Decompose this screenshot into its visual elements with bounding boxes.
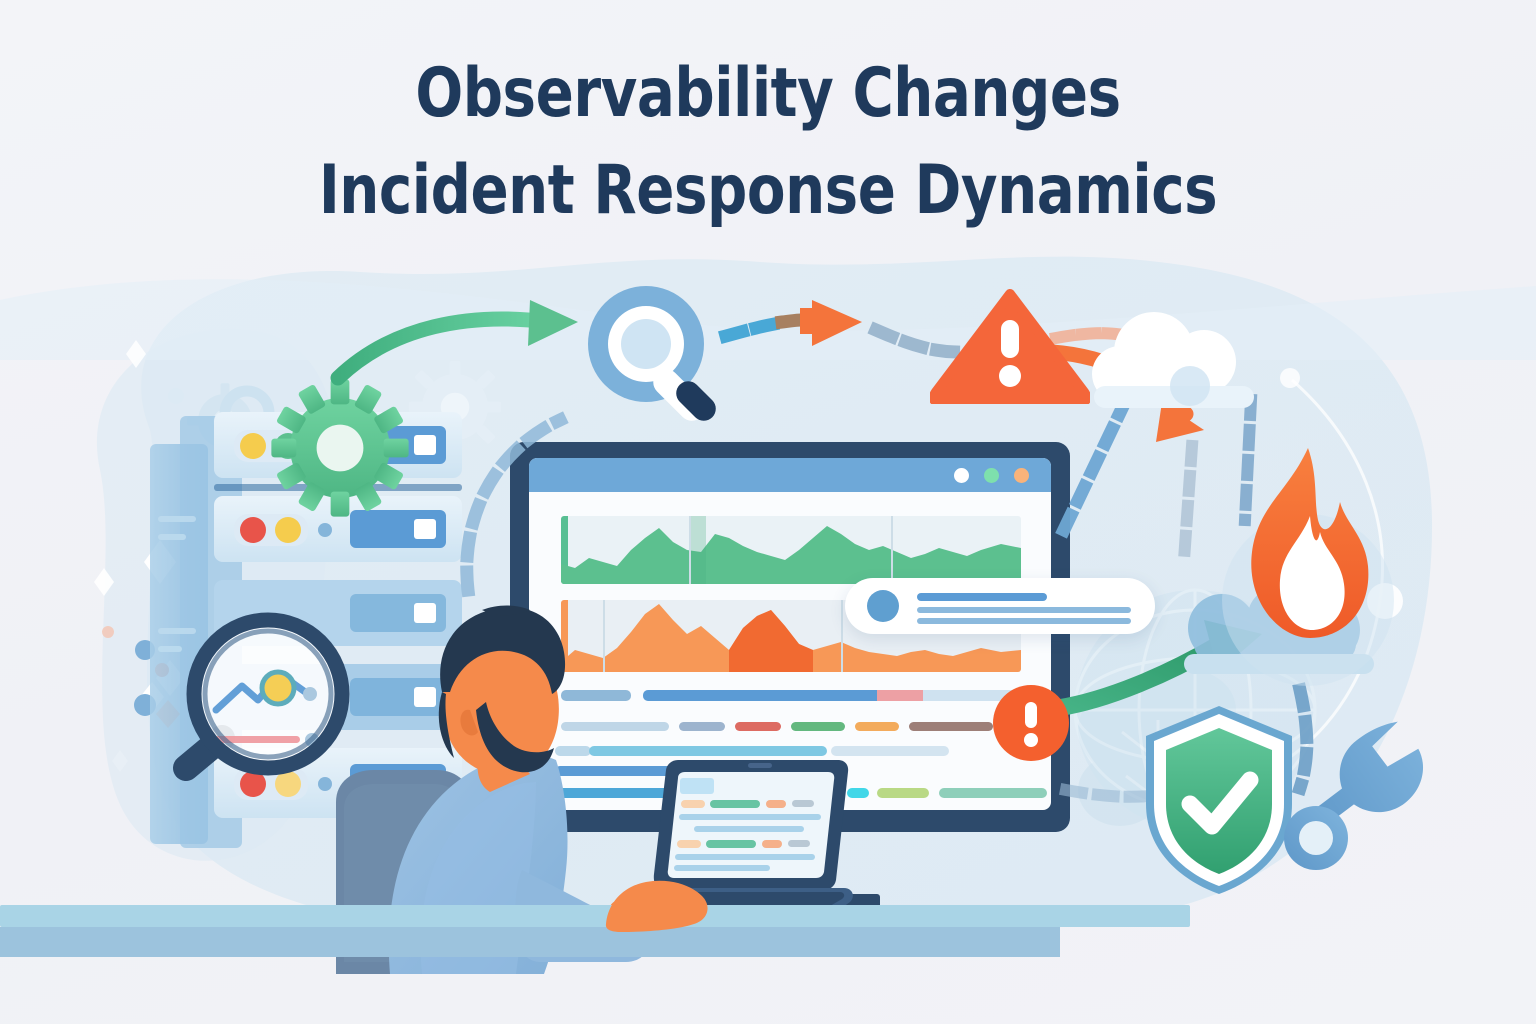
dashed-path-alert-to-flame (1184, 446, 1192, 560)
flow-arrow-green-left (338, 300, 578, 378)
cloud-icon (1080, 300, 1290, 430)
dashed-path-rack-to-monitor (467, 420, 560, 590)
wrench-icon (1268, 706, 1448, 886)
page-title: Observability Changes Incident Response … (0, 46, 1536, 239)
notification-line (917, 607, 1131, 613)
alert-badge-icon (990, 682, 1072, 764)
notification-line (917, 618, 1131, 624)
illustration-canvas: Observability Changes Incident Response … (0, 0, 1536, 1024)
avatar (867, 590, 899, 622)
notification-line (917, 593, 1047, 601)
notification-card[interactable] (845, 578, 1155, 634)
title-line-2: Incident Response Dynamics (61, 143, 1474, 240)
warning-triangle-icon (930, 288, 1090, 404)
flow-arrow-orange-top (726, 300, 958, 352)
title-line-1: Observability Changes (61, 46, 1474, 143)
flame-icon (1222, 440, 1392, 650)
